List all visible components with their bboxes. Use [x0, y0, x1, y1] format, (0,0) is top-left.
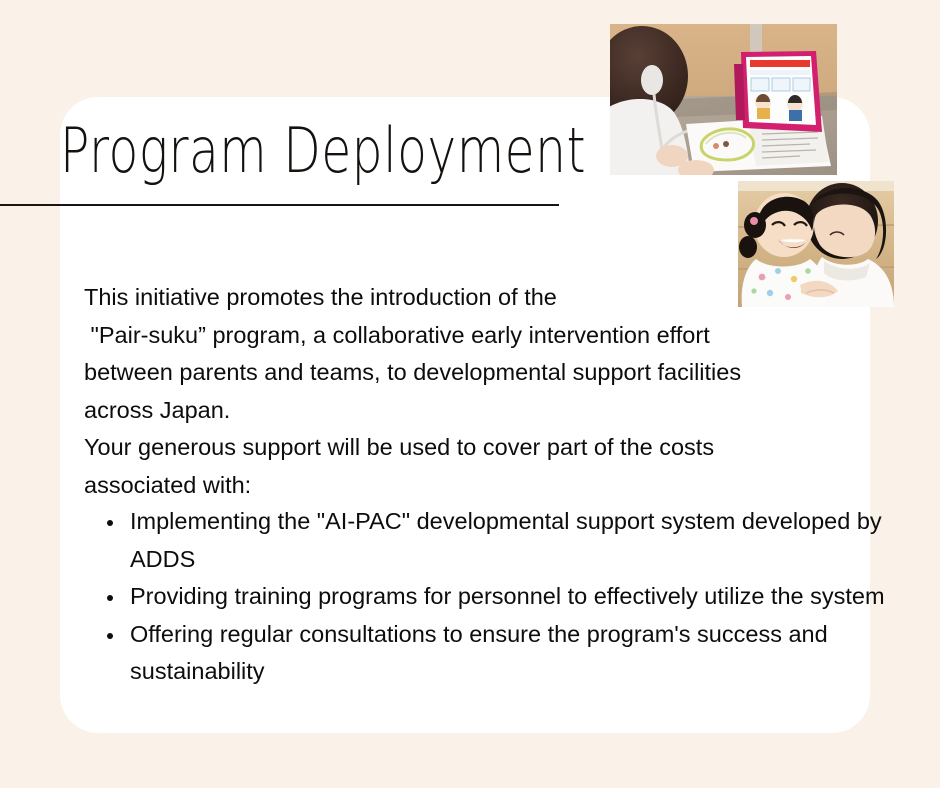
- body-paragraph: This initiative promotes the introductio…: [84, 279, 896, 504]
- list-item: Providing training programs for personne…: [84, 578, 899, 616]
- page-title: Program Deployment: [60, 105, 612, 199]
- body-line: between parents and teams, to developmen…: [84, 354, 896, 392]
- photo-tablet-session: [610, 24, 837, 175]
- list-item: Implementing the "AI-PAC" developmental …: [84, 503, 899, 578]
- title-divider: [0, 204, 559, 206]
- body-line: "Pair-suku” program, a collaborative ear…: [84, 317, 896, 355]
- body-line: across Japan.: [84, 392, 896, 430]
- slide-canvas: Program Deployment This initiative promo…: [0, 0, 940, 788]
- body-line: This initiative promotes the introductio…: [84, 279, 896, 317]
- body-line: associated with:: [84, 467, 896, 505]
- support-bullet-list: Implementing the "AI-PAC" developmental …: [84, 503, 899, 691]
- photo-tablet-session-image: [610, 24, 837, 175]
- body-line: Your generous support will be used to co…: [84, 429, 896, 467]
- list-item: Offering regular consultations to ensure…: [84, 616, 899, 691]
